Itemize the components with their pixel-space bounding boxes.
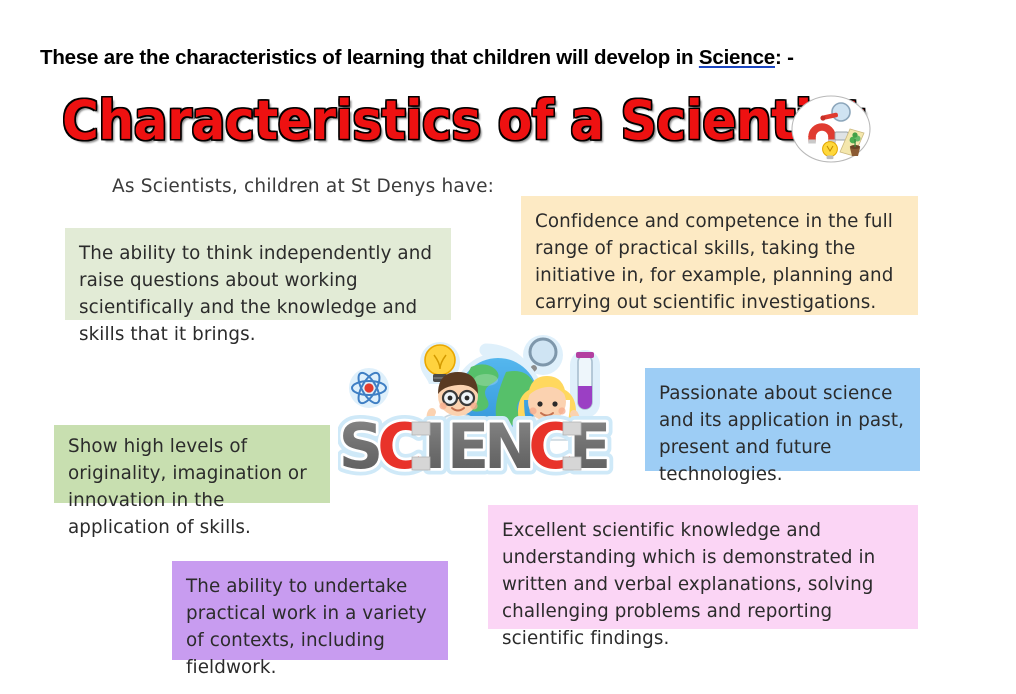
science-word-graphic: S C I E N C E S C I E N C E S I bbox=[338, 322, 634, 484]
header-text-after: : - bbox=[775, 46, 794, 69]
characteristic-box-practical-work: The ability to undertake practical work … bbox=[172, 561, 448, 660]
page-header-sentence: These are the characteristics of learnin… bbox=[40, 46, 794, 70]
header-text-before: These are the characteristics of learnin… bbox=[40, 46, 699, 69]
page-title-text: Characteristics of a Scientist bbox=[62, 92, 865, 150]
characteristic-box-think-independently: The ability to think independently and r… bbox=[65, 228, 451, 320]
atom-icon bbox=[349, 368, 389, 408]
svg-text:C: C bbox=[377, 410, 423, 483]
svg-text:I: I bbox=[423, 410, 446, 483]
subtitle-text: As Scientists, children at St Denys have… bbox=[112, 176, 494, 197]
characteristic-box-passionate-about-science: Passionate about science and its applica… bbox=[645, 368, 920, 471]
svg-text:E: E bbox=[447, 410, 489, 483]
svg-text:E: E bbox=[569, 410, 611, 483]
characteristic-box-excellent-knowledge: Excellent scientific knowledge and under… bbox=[488, 505, 918, 629]
svg-text:C: C bbox=[528, 410, 574, 483]
science-badge-icon bbox=[790, 94, 872, 164]
header-subject-link[interactable]: Science bbox=[699, 46, 775, 69]
characteristic-box-confidence-competence: Confidence and competence in the full ra… bbox=[521, 196, 918, 315]
characteristic-box-originality-imagination: Show high levels of originality, imagina… bbox=[54, 425, 330, 503]
science-letters: S C I E N C E S C I E N C E S I bbox=[339, 410, 612, 483]
